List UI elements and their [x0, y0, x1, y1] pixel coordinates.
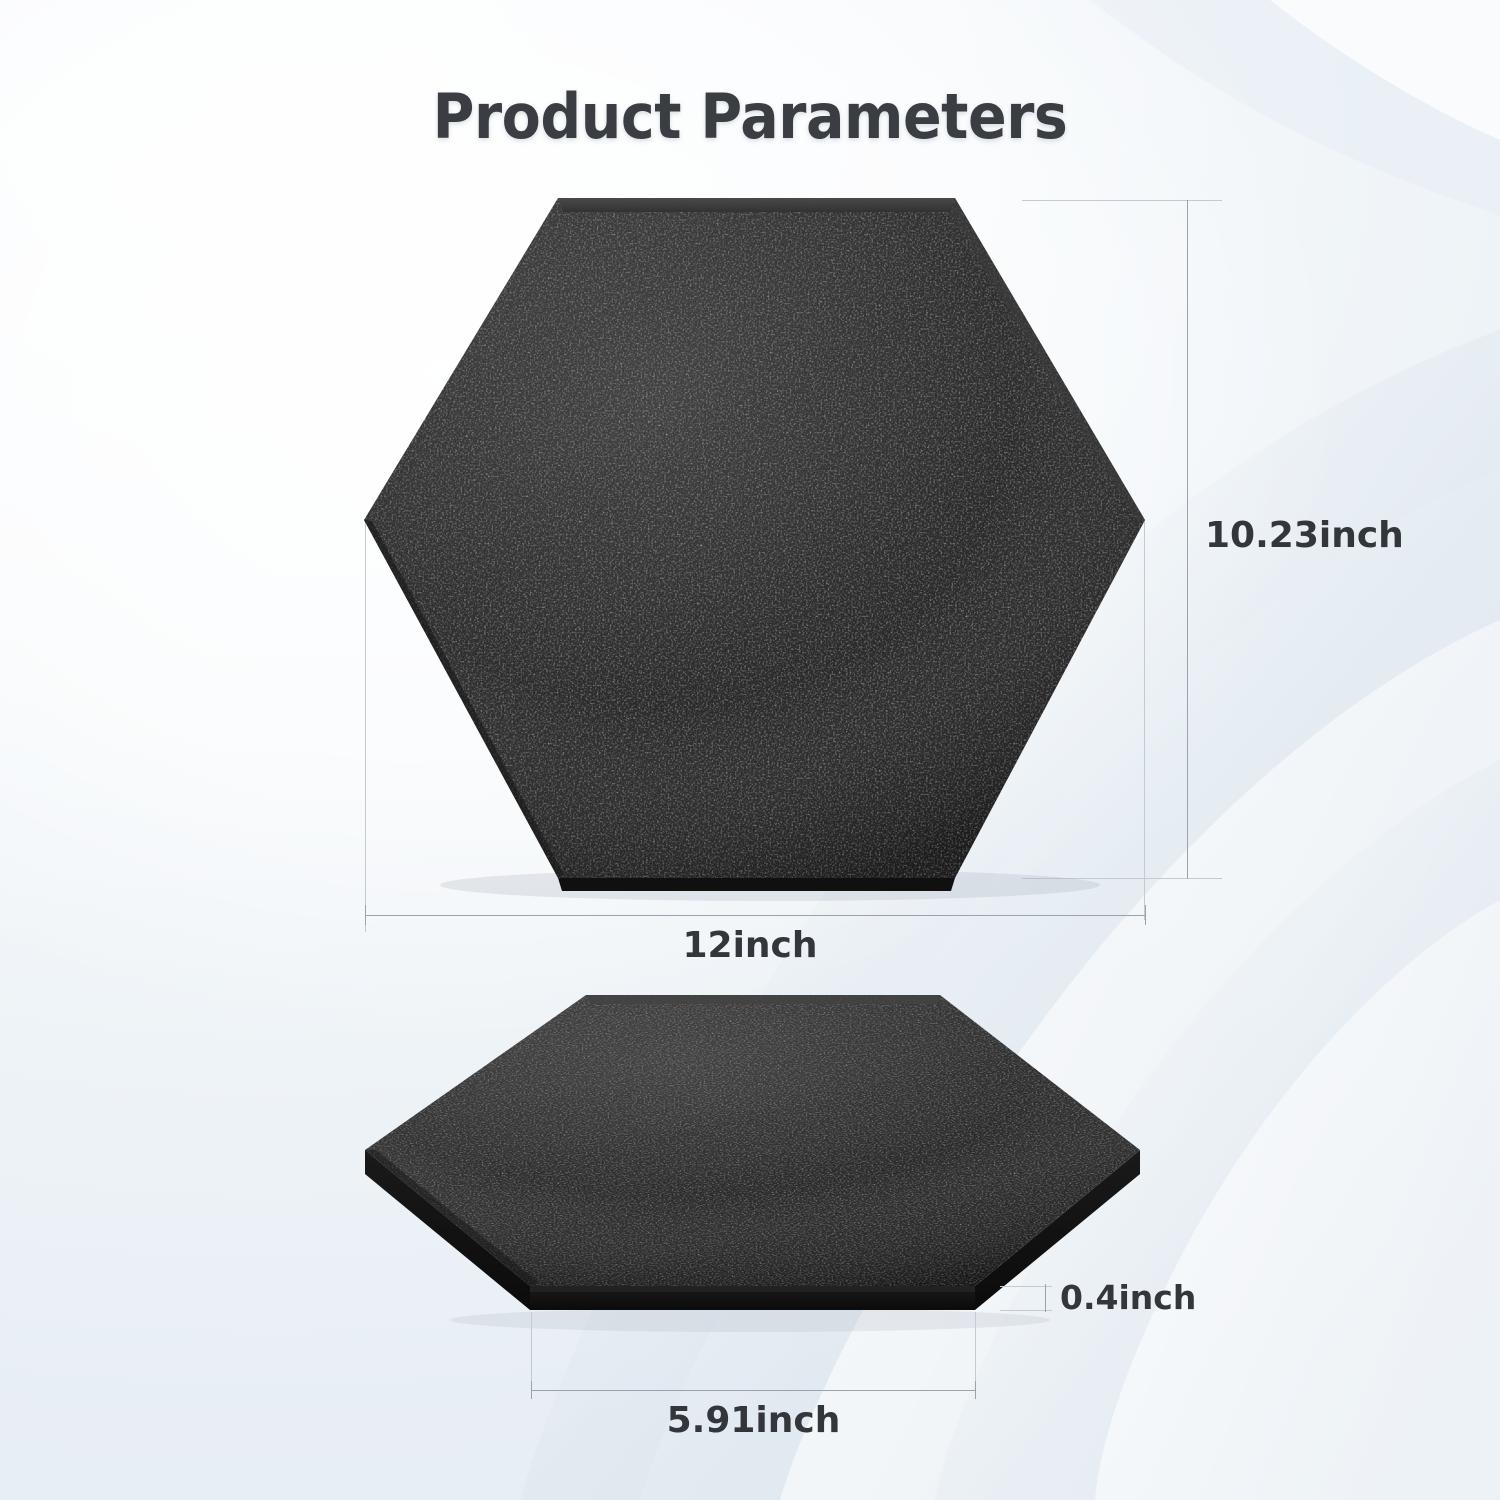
dimension-tick-width-left: [365, 905, 366, 925]
dimension-label-height: 10.23inch: [1205, 515, 1404, 556]
dimension-label-edge: 5.91inch: [531, 1400, 976, 1441]
dimension-line-edge: [531, 1390, 976, 1391]
dimension-tick-width-right: [1145, 905, 1146, 925]
dimension-line-thickness: [1045, 1284, 1046, 1312]
front-view-panel: [350, 185, 1170, 905]
dimension-tick-edge-left: [531, 1381, 532, 1399]
dimension-label-width: 12inch: [0, 925, 1500, 966]
page-title: Product Parameters: [60, 80, 1440, 153]
dimension-label-thickness: 0.4inch: [1060, 1278, 1196, 1317]
product-parameters-image: Product Parameters 10.23inch 12inch [dat…: [0, 0, 1500, 1500]
dimension-tick-edge-right: [975, 1381, 976, 1399]
dimension-line-width: [365, 915, 1146, 916]
dimension-line-height: [1187, 200, 1188, 879]
